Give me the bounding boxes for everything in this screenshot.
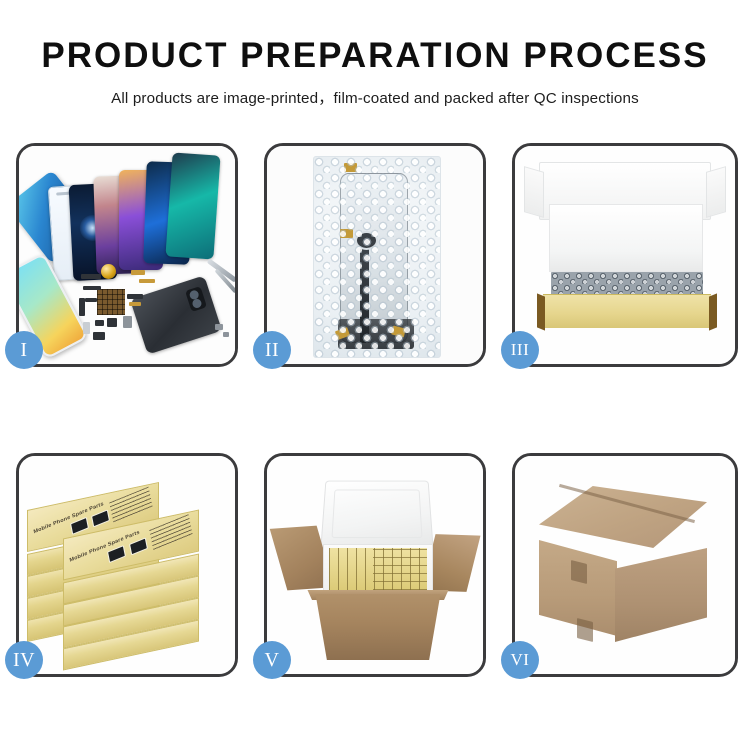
box-label-window-1 (107, 545, 126, 563)
bubble-texture (314, 157, 440, 357)
process-step-3: III (512, 143, 738, 367)
part-strip-4 (85, 298, 97, 302)
part-strip-gold-3 (129, 302, 141, 306)
step-3-image (515, 146, 735, 364)
part-screw-2 (223, 332, 229, 337)
step-badge-2: II (253, 331, 291, 369)
step-badge-1: I (5, 331, 43, 369)
step-5-image (267, 456, 483, 674)
step-2-image (267, 146, 483, 364)
part-screw-1 (215, 324, 223, 330)
box-label-window-2 (91, 509, 110, 527)
part-strip-gold-1 (131, 270, 145, 275)
process-step-2: II (264, 143, 486, 367)
step-4-image: Mobile Phone Spare Parts Mobile Phone Sp… (19, 456, 235, 674)
gold-coin-icon (101, 264, 116, 279)
yellow-boxes-inside (329, 548, 427, 590)
process-step-6: VI (512, 453, 738, 677)
step-badge-4: IV (5, 641, 43, 679)
foam-lid-open-icon (320, 481, 433, 549)
step-badge-3: III (501, 331, 539, 369)
part-strip-gold-2 (139, 279, 155, 283)
bubble-wrap-inside-icon (551, 272, 703, 296)
page-header: PRODUCT PREPARATION PROCESS All products… (0, 0, 750, 108)
part-strip-1 (81, 274, 101, 279)
step-badge-5: V (253, 641, 291, 679)
process-step-1: I (16, 143, 238, 367)
kraft-box-front (543, 294, 711, 328)
process-step-4: Mobile Phone Spare Parts Mobile Phone Sp… (16, 453, 238, 677)
part-strip-5 (127, 294, 143, 299)
process-step-grid: I II III (16, 143, 738, 677)
carton-tape-upper (571, 560, 587, 584)
process-step-5: V (264, 453, 486, 677)
step-6-image (515, 456, 735, 674)
part-connector-4 (123, 316, 132, 328)
page-subtitle: All products are image-printed，film-coat… (0, 86, 750, 108)
page-title: PRODUCT PREPARATION PROCESS (0, 38, 750, 75)
box-label-lines (149, 514, 192, 551)
part-speaker-icon (93, 332, 105, 340)
box-label-window-2 (129, 537, 148, 555)
part-connector-3 (107, 318, 117, 327)
box-label-lines (109, 487, 152, 524)
chip-grid-icon (97, 289, 125, 315)
part-connector-1 (83, 322, 90, 334)
box-label-window-1 (70, 517, 89, 535)
step-badge-6: VI (501, 641, 539, 679)
phone-icon-1 (165, 152, 220, 259)
carton-right-face (615, 548, 707, 642)
carton-front-face (307, 594, 449, 660)
bubble-wrap-bag-icon (313, 156, 441, 358)
carton-tape-lower (577, 618, 593, 642)
step-1-image (19, 146, 235, 364)
part-strip-2 (83, 286, 101, 290)
part-connector-2 (95, 320, 104, 326)
foam-sheet-icon (549, 204, 703, 272)
camera-module-icon (185, 286, 207, 312)
